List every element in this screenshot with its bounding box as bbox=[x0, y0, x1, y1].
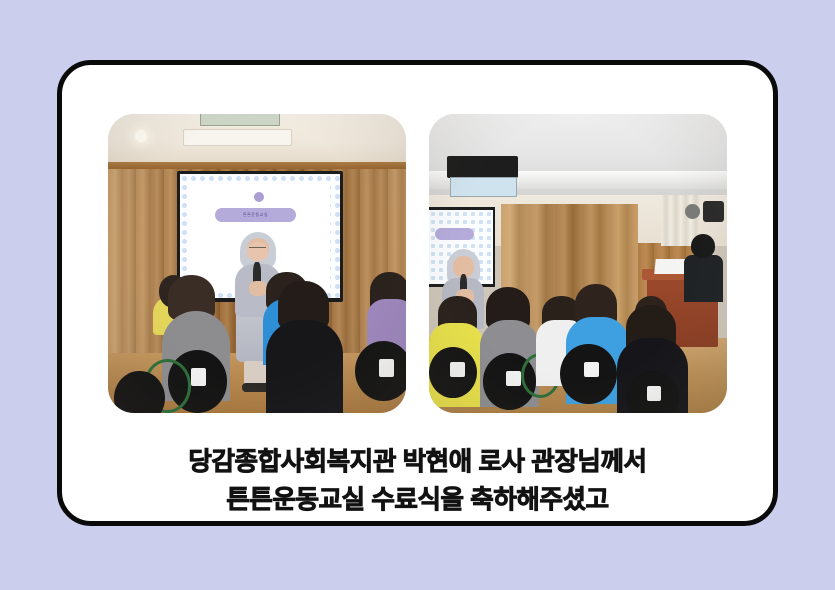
caption-block: 당감종합사회복지관 박현애 로사 관장님께서 튼튼운동교실 수료식을 축하해주셨… bbox=[62, 443, 773, 519]
content-card: 튼튼운동교실 bbox=[57, 60, 778, 526]
slide-canvas: 튼튼운동교실 bbox=[0, 0, 835, 590]
photo-vignette bbox=[108, 114, 406, 413]
photo-right-scene bbox=[429, 114, 727, 413]
photo-left[interactable]: 튼튼운동교실 bbox=[108, 114, 406, 413]
photo-row: 튼튼운동교실 bbox=[108, 114, 728, 413]
caption-line-2: 튼튼운동교실 수료식을 축하해주셨고 bbox=[62, 481, 773, 519]
caption-line-1: 당감종합사회복지관 박현애 로사 관장님께서 bbox=[62, 443, 773, 481]
photo-right[interactable] bbox=[429, 114, 727, 413]
photo-vignette bbox=[429, 114, 727, 413]
photo-left-scene: 튼튼운동교실 bbox=[108, 114, 406, 413]
